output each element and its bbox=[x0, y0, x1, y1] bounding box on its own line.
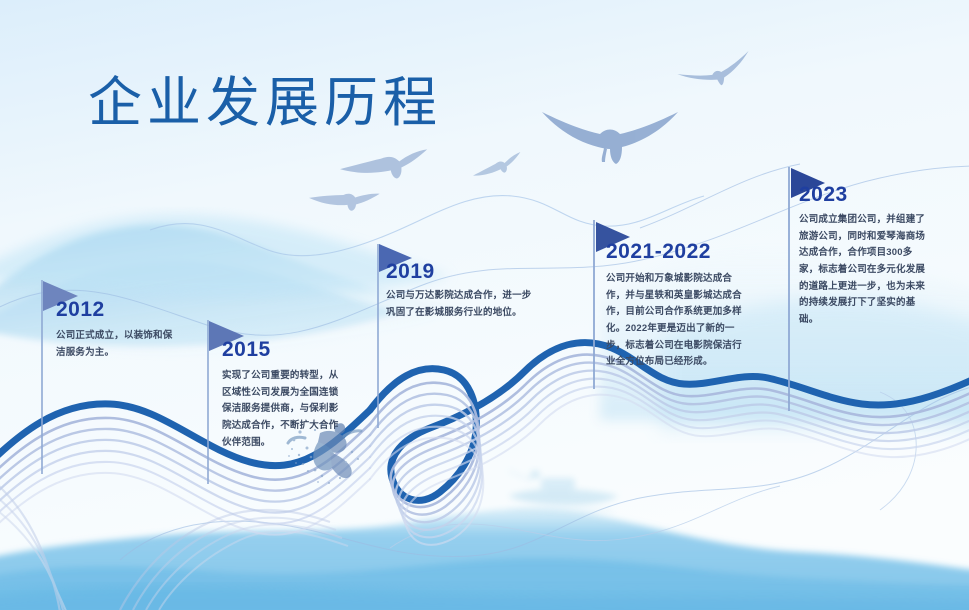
page-title: 企业发展历程 bbox=[88, 58, 442, 137]
seagull-upper-right bbox=[677, 51, 756, 97]
seagull-left bbox=[340, 138, 427, 182]
milestone-desc-2021-2022: 公司开始和万象城影院达成合作，并与星轶和英皇影城达成合作，目前公司合作系统更加多… bbox=[606, 271, 746, 371]
milestone-desc-2015: 实现了公司重要的转型，从区域性公司发展为全国连锁保洁服务提供商，与保利影院达成合… bbox=[222, 368, 344, 451]
milestone-year-2021-2022: 2021-2022 bbox=[606, 240, 711, 264]
milestone-desc-2012: 公司正式成立，以装饰和保洁服务为主。 bbox=[56, 328, 181, 361]
seagull-small-center bbox=[471, 152, 522, 176]
ribbon-left-tail-stripes bbox=[0, 470, 68, 610]
boat-silhouette bbox=[508, 470, 618, 515]
decorative-curve-thin bbox=[390, 392, 916, 548]
ribbon-bottom-tail bbox=[0, 512, 380, 600]
milestone-year-2015: 2015 bbox=[222, 338, 271, 362]
ribbon-fold-segment bbox=[370, 343, 969, 545]
milestone-year-2023: 2023 bbox=[799, 183, 848, 207]
infographic-canvas: 企业发展历程 2012 公司正式成立，以装饰和保洁服务为主。 2015 实现了公… bbox=[0, 0, 969, 610]
milestone-desc-2019: 公司与万达影院达成合作，进一步巩固了在影城服务行业的地位。 bbox=[386, 288, 534, 321]
milestone-year-2012: 2012 bbox=[56, 298, 105, 322]
mountain-bottom bbox=[0, 508, 969, 610]
milestone-desc-2023: 公司成立集团公司，并组建了旅游公司，同时和爱琴海商场达成合作，合作项目300多家… bbox=[799, 212, 931, 328]
mountain-bottom-haze bbox=[0, 586, 969, 610]
seagull-lower-left bbox=[308, 180, 379, 216]
seagull-large bbox=[542, 112, 678, 164]
milestone-year-2019: 2019 bbox=[386, 260, 435, 284]
ribbon-echo-stripes bbox=[120, 510, 348, 610]
